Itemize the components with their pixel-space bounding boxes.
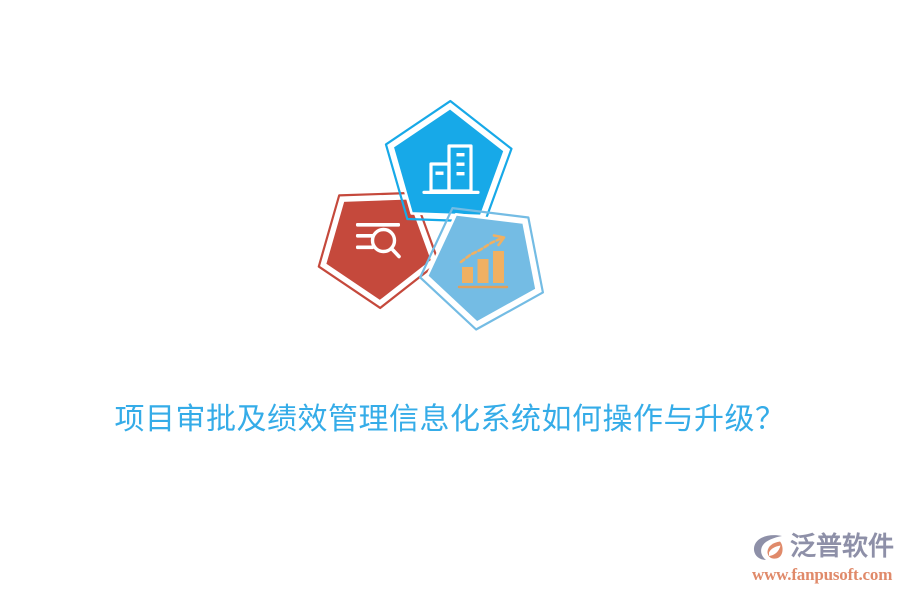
page-title: 项目审批及绩效管理信息化系统如何操作与升级？: [0, 400, 900, 440]
fanpu-swoosh-logo-icon: [752, 532, 786, 562]
brand-watermark: 泛普软件 www.fanpusoft.com: [752, 530, 888, 588]
brand-name: 泛普软件: [790, 532, 894, 562]
brand-row: 泛普软件: [752, 530, 888, 564]
page-title-text: 项目审批及绩效管理信息化系统如何操作与升级？: [115, 400, 786, 440]
pentagon-icon-cluster: [300, 95, 570, 345]
page-canvas: 项目审批及绩效管理信息化系统如何操作与升级？ 泛普软件 www.fanpusof…: [0, 0, 900, 600]
brand-url: www.fanpusoft.com: [752, 565, 888, 585]
